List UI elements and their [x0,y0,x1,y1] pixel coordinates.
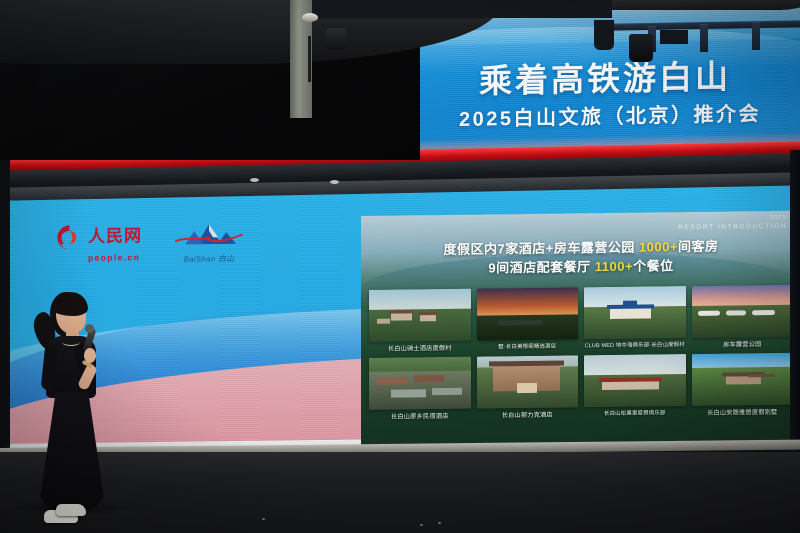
slide-section-label: RESORT INTRODUCTION [678,223,787,231]
slide-headline: 度假区内7家酒店+房车露营公园 1000+间客房 9间酒店配套餐厅 1100+个… [361,237,800,280]
headline-2a: 9间酒店配套餐厅 [488,259,594,275]
floor-speck [438,522,441,524]
headline-1a: 度假区内7家酒店+房车露营公园 [444,240,639,257]
baishan-wordmark: BaiShan 白山 [184,253,234,265]
downlight-icon [250,178,259,182]
event-title-main: 乘着高铁游白山 [410,49,800,104]
photo-caption: 长白山骑士酒店度假村 [369,343,471,353]
hotel-photo [477,287,579,340]
baishan-cn: 白山 [218,254,234,263]
photo-caption: 长白山郝力克酒店 [477,409,579,419]
baishan-en: BaiShan [184,254,216,263]
slide-year: 2025 [770,215,787,221]
truss-bar [700,24,708,52]
presentation-slide: 2025 RESORT INTRODUCTION 度假区内7家酒店+房车露营公园… [361,211,800,448]
right-wall [790,150,800,460]
headline-1b-highlight: 1000+ [639,239,678,254]
stage-scene: 乘着高铁游白山 2025白山文旅（北京）推介会 [0,0,800,533]
photo-caption: 长白山原乡民宿酒店 [369,411,471,421]
photo-cell: 房车露营公园 [692,285,794,349]
photo-cell: 长白山郝力克酒店 [477,355,579,419]
photo-cell: 墅·长白美憬阁精选酒店 [477,287,579,351]
baishan-logo: BaiShan 白山 [172,219,246,265]
floor-speck [262,518,265,520]
hotel-photo [369,357,471,410]
photo-caption: 长白山松果里度假俱乐部 [584,408,686,417]
villa-photo [692,353,794,406]
photo-caption: 房车露营公园 [692,339,794,349]
ceiling-occluder [312,0,612,18]
campground-photo [692,285,794,338]
hotel-photo [584,354,686,407]
hotel-photo [369,289,471,342]
photo-cell: 长白山安隐雅居度假别墅 [692,353,794,417]
headline-1c: 间客房 [678,239,719,254]
logo-row: 人民网 people.cn BaiShan [56,219,246,266]
photo-caption: CLUB MED 地中海俱乐部·长白山度假村 [584,340,686,349]
headline-2b-highlight: 1100+ [595,259,633,274]
people-cn-mark-icon [56,224,83,251]
people-cn-domain: people.cn [88,252,140,263]
hotel-photo [477,355,579,408]
ceiling-occluder [594,20,614,50]
presenter-shoe [56,504,86,516]
microphone-head-icon [85,324,94,333]
photo-cell: 长白山骑士酒店度假村 [369,289,471,353]
event-title-sub: 2025白山文旅（北京）推介会 [410,96,800,133]
photo-cell: CLUB MED 地中海俱乐部·长白山度假村 [584,286,686,350]
photo-cell: 长白山松果里度假俱乐部 [584,354,686,418]
truss-bar [752,22,760,50]
people-cn-logo: 人民网 people.cn [56,223,142,263]
left-wall [0,160,10,460]
downlight-icon [330,180,339,184]
photo-cell: 长白山原乡民宿酒店 [369,357,471,421]
stage-floor [0,452,800,533]
hotel-photo [584,286,686,339]
headline-2c: 个餐位 [633,258,674,273]
floor-speck [420,524,423,526]
ceiling-occluder [660,30,688,44]
presenter-hand [84,348,96,363]
people-cn-label: 人民网 [88,228,142,246]
photo-caption: 长白山安隐雅居度假别墅 [692,407,794,417]
hotel-photo-grid: 长白山骑士酒店度假村 墅·长白美憬阁精选酒店 CLUB ME [369,285,793,421]
baishan-mountain-icon [172,219,246,253]
photo-caption: 墅·长白美憬阁精选酒店 [477,341,579,350]
